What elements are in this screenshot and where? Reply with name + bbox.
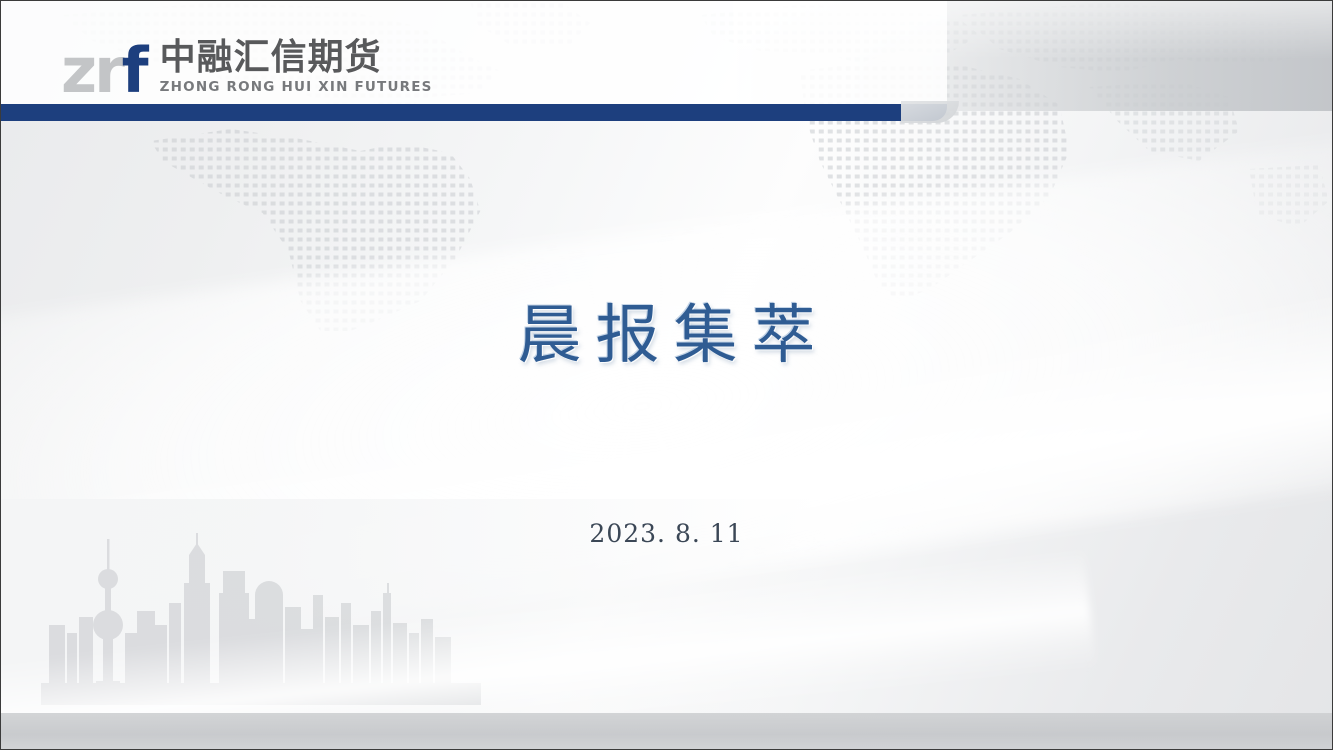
header-blue-rule [1,104,947,121]
logo-mark-zrf: zrf [61,46,146,97]
company-name-cn: 中融汇信期货 [160,40,433,76]
company-logo: zrf 中融汇信期货 ZHONG RONG HUI XIN FUTURES [61,27,433,97]
slide-header: zrf 中融汇信期货 ZHONG RONG HUI XIN FUTURES [1,1,1332,123]
bottom-gradient-band [1,713,1332,749]
page-title: 晨报集萃 [1,284,1332,376]
company-name-en: ZHONG RONG HUI XIN FUTURES [160,79,433,95]
logo-mark-f-text: f [122,46,146,97]
logo-wordmark: 中融汇信期货 ZHONG RONG HUI XIN FUTURES [160,40,433,97]
presentation-slide: zrf 中融汇信期货 ZHONG RONG HUI XIN FUTURES 晨报… [0,0,1333,750]
logo-mark-zr-text: zr [61,46,122,97]
header-rule-end-cap [901,101,959,123]
slide-date: 2023. 8. 11 [1,519,1332,548]
title-block: 晨报集萃 [1,284,1332,376]
